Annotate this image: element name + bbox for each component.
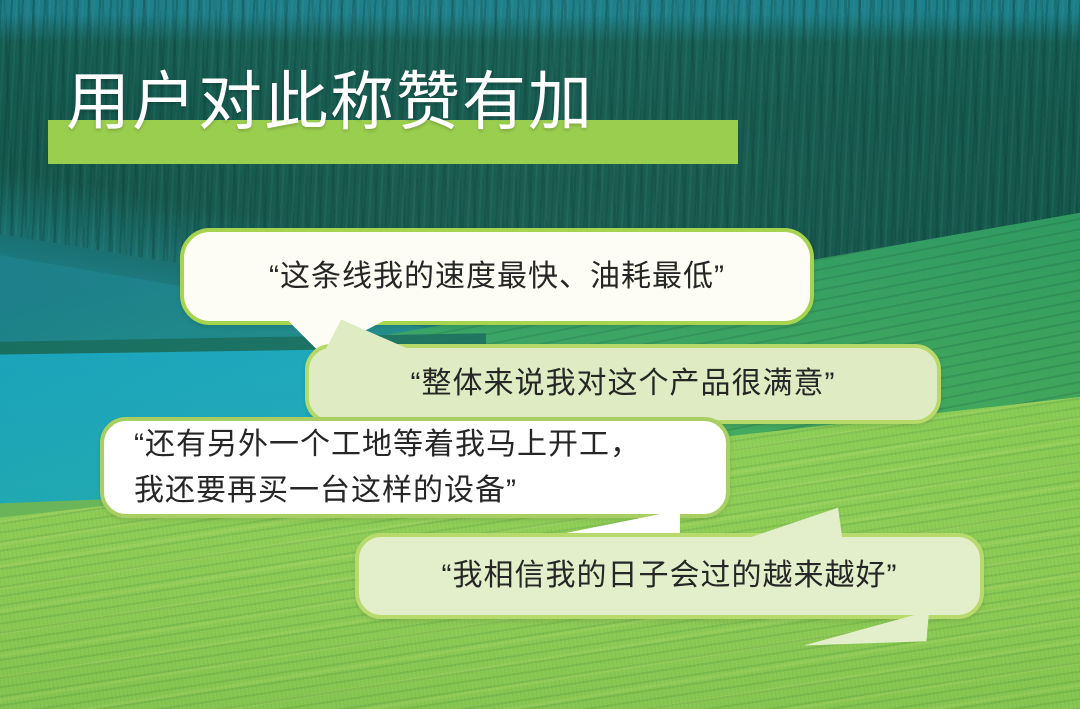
testimonial-bubble-1: “这条线我的速度最快、油耗最低” xyxy=(180,228,814,325)
page-title: 用户对此称赞有加 xyxy=(48,62,808,172)
testimonial-bubble-2: “整体来说我对这个产品很满意” xyxy=(305,344,941,424)
poster-canvas: 用户对此称赞有加 “这条线我的速度最快、油耗最低” “整体来说我对这个产品很满意… xyxy=(0,0,1080,709)
testimonial-bubble-4: “我相信我的日子会过的越来越好” xyxy=(355,533,984,619)
title-text: 用户对此称赞有加 xyxy=(66,62,594,142)
testimonial-text-1: “这条线我的速度最快、油耗最低” xyxy=(184,254,810,300)
testimonial-text-4: “我相信我的日子会过的越来越好” xyxy=(359,553,980,599)
testimonial-text-3: “还有另外一个工地等着我马上开工， 我还要再买一台这样的设备” xyxy=(104,422,726,514)
testimonial-bubble-3: “还有另外一个工地等着我马上开工， 我还要再买一台这样的设备” xyxy=(100,417,730,518)
testimonial-text-2: “整体来说我对这个产品很满意” xyxy=(309,361,937,407)
